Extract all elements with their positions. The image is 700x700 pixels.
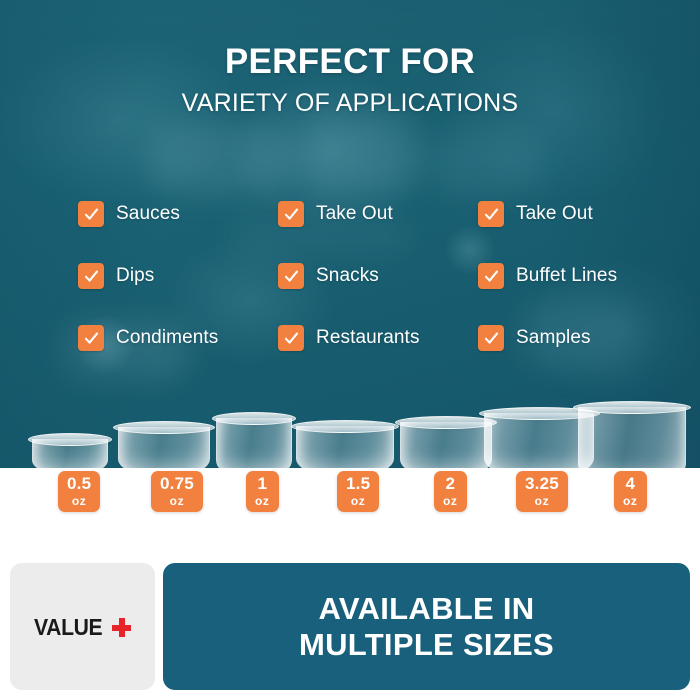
size-unit: oz [67, 495, 91, 507]
cup-body [216, 418, 292, 475]
size-unit: oz [346, 495, 370, 507]
check-icon [78, 325, 104, 351]
cta-line-2: MULTIPLE SIZES [299, 627, 554, 662]
size-badge: 2 oz [434, 471, 467, 512]
list-item-label: Snacks [316, 265, 379, 287]
list-item-label: Buffet Lines [516, 265, 617, 287]
size-value: 0.5 [67, 475, 91, 492]
list-item-label: Samples [516, 327, 591, 349]
list-item: Buffet Lines [478, 245, 678, 307]
plus-icon [112, 618, 131, 637]
value-plus-logo: VALUE [34, 614, 131, 641]
list-item-label: Take Out [316, 203, 393, 225]
size-badge: 3.25 oz [516, 471, 568, 512]
list-item: Dips [78, 245, 278, 307]
size-badge: 0.75 oz [151, 471, 203, 512]
size-value: 4 [623, 475, 638, 492]
size-unit: oz [623, 495, 638, 507]
list-item: Condiments [78, 307, 278, 369]
check-icon [478, 325, 504, 351]
size-value: 3.25 [525, 475, 559, 492]
list-item: Take Out [278, 183, 478, 245]
size-badge: 0.5 oz [58, 471, 100, 512]
brand-logo-box: VALUE [10, 563, 155, 690]
check-icon [478, 201, 504, 227]
applications-list: Sauces Take Out Take Out Dips Snacks [78, 183, 678, 369]
size-value: 2 [443, 475, 458, 492]
check-icon [478, 263, 504, 289]
list-item-label: Take Out [516, 203, 593, 225]
list-item-label: Condiments [116, 327, 218, 349]
list-item: Take Out [478, 183, 678, 245]
cup-image [216, 418, 292, 475]
size-unit: oz [160, 495, 194, 507]
headline-block: PERFECT FOR VARIETY OF APPLICATIONS [0, 44, 700, 117]
page-title: PERFECT FOR [0, 44, 700, 81]
size-value: 0.75 [160, 475, 194, 492]
list-item-label: Sauces [116, 203, 180, 225]
size-unit: oz [525, 495, 559, 507]
size-value: 1.5 [346, 475, 370, 492]
list-item: Sauces [78, 183, 278, 245]
list-item: Snacks [278, 245, 478, 307]
size-badge: 1 oz [246, 471, 279, 512]
check-icon [278, 325, 304, 351]
check-icon [278, 263, 304, 289]
size-unit: oz [443, 495, 458, 507]
cta-banner: AVAILABLE IN MULTIPLE SIZES [163, 563, 690, 690]
size-value: 1 [255, 475, 270, 492]
product-infographic: PERFECT FOR VARIETY OF APPLICATIONS Sauc… [0, 0, 700, 700]
check-icon [278, 201, 304, 227]
list-item-label: Dips [116, 265, 154, 287]
size-unit: oz [255, 495, 270, 507]
check-icon [78, 201, 104, 227]
list-item: Samples [478, 307, 678, 369]
page-subtitle: VARIETY OF APPLICATIONS [0, 90, 700, 118]
size-badge: 1.5 oz [337, 471, 379, 512]
logo-wordmark: VALUE [34, 614, 102, 641]
size-badge: 4 oz [614, 471, 647, 512]
list-item-label: Restaurants [316, 327, 420, 349]
cup-size-lineup [0, 415, 700, 475]
check-icon [78, 263, 104, 289]
list-item: Restaurants [278, 307, 478, 369]
cta-line-1: AVAILABLE IN [319, 591, 535, 626]
